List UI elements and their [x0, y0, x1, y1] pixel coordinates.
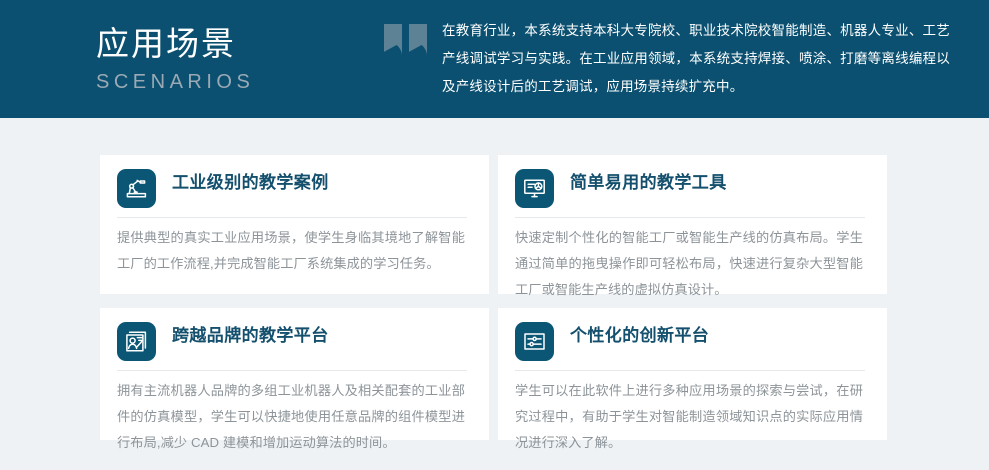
card-title: 跨越品牌的教学平台 — [172, 321, 467, 348]
scenario-card-industrial-cases[interactable]: 工业级别的教学案例 提供典型的真实工业应用场景，使学生身临其境地了解智能工厂的工… — [100, 155, 489, 294]
id-card-person-icon — [117, 322, 156, 361]
banner-inner: 应用场景 SCENARIOS 在教育行业，本系统支持本科大专院校、职业技术院校智… — [0, 0, 989, 118]
page-title: 应用场景 — [96, 25, 236, 63]
card-divider — [515, 370, 865, 371]
card-header-text: 简单易用的教学工具 — [570, 168, 865, 195]
card-body-text: 提供典型的真实工业应用场景，使学生身临其境地了解智能工厂的工作流程,并完成智能工… — [117, 225, 467, 277]
scenarios-section: 工业级别的教学案例 提供典型的真实工业应用场景，使学生身临其境地了解智能工厂的工… — [0, 118, 989, 470]
card-header: 简单易用的教学工具 — [515, 168, 865, 208]
card-body-text: 拥有主流机器人品牌的多组工业机器人及相关配套的工业部件的仿真模型，学生可以快捷地… — [117, 378, 467, 456]
page-banner: 应用场景 SCENARIOS 在教育行业，本系统支持本科大专院校、职业技术院校智… — [0, 0, 989, 118]
card-header: 跨越品牌的教学平台 — [117, 321, 467, 361]
card-divider — [117, 370, 467, 371]
card-divider — [515, 217, 865, 218]
quote-mark-right — [409, 24, 427, 58]
card-title: 工业级别的教学案例 — [172, 168, 467, 195]
page-subtitle: SCENARIOS — [96, 69, 254, 95]
robot-arm-icon — [117, 169, 156, 208]
card-divider — [117, 217, 467, 218]
monitor-3d-icon — [515, 169, 554, 208]
card-header-text: 跨越品牌的教学平台 — [172, 321, 467, 348]
card-body-text: 快速定制个性化的智能工厂或智能生产线的仿真布局。学生通过简单的拖曳操作即可轻松布… — [515, 225, 865, 303]
scenario-card-grid: 工业级别的教学案例 提供典型的真实工业应用场景，使学生身临其境地了解智能工厂的工… — [100, 155, 880, 440]
quote-open-glyph — [384, 24, 430, 64]
card-header-text: 个性化的创新平台 — [570, 321, 865, 348]
banner-description: 在教育行业，本系统支持本科大专院校、职业技术院校智能制造、机器人专业、工艺产线调… — [442, 17, 970, 101]
banner-title-block: 应用场景 SCENARIOS — [96, 23, 396, 95]
scenario-card-teaching-tool[interactable]: 简单易用的教学工具 快速定制个性化的智能工厂或智能生产线的仿真布局。学生通过简单… — [498, 155, 887, 294]
scenario-card-cross-brand-platform[interactable]: 跨越品牌的教学平台 拥有主流机器人品牌的多组工业机器人及相关配套的工业部件的仿真… — [100, 308, 489, 440]
quote-open-icon — [384, 24, 430, 64]
card-title: 简单易用的教学工具 — [570, 168, 865, 195]
card-header: 个性化的创新平台 — [515, 321, 865, 361]
sliders-settings-icon — [515, 322, 554, 361]
card-body-text: 学生可以在此软件上进行多种应用场景的探索与尝试，在研究过程中，有助于学生对智能制… — [515, 378, 865, 456]
scenario-card-innovation-platform[interactable]: 个性化的创新平台 学生可以在此软件上进行多种应用场景的探索与尝试，在研究过程中，… — [498, 308, 887, 440]
card-header: 工业级别的教学案例 — [117, 168, 467, 208]
quote-mark-left — [384, 24, 402, 58]
card-title: 个性化的创新平台 — [570, 321, 865, 348]
card-header-text: 工业级别的教学案例 — [172, 168, 467, 195]
